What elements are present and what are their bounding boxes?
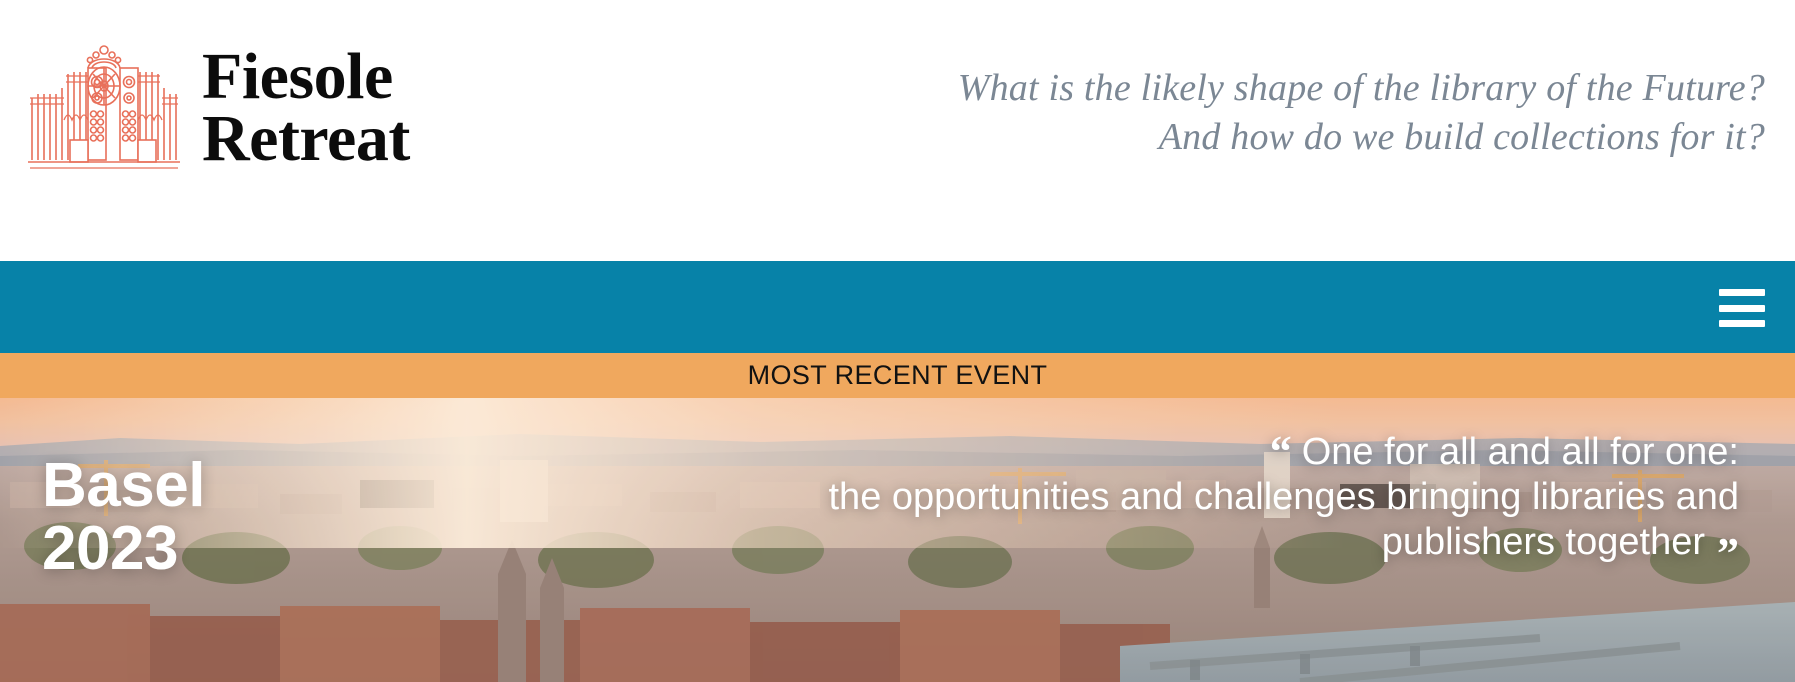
hero-quote-line-2: the opportunities and challenges bringin… (819, 475, 1739, 520)
brand-logo-link[interactable]: Fiesole Retreat (28, 42, 410, 170)
brand-wordmark: Fiesole Retreat (202, 46, 410, 170)
quote-open-icon: “ (1270, 427, 1292, 476)
hero-quote-text-1: One for all and all for one: (1302, 431, 1739, 473)
hero-quote: “One for all and all for one: the opport… (819, 430, 1739, 564)
quote-close-icon: ” (1717, 529, 1739, 578)
event-banner-label: MOST RECENT EVENT (748, 360, 1048, 391)
hamburger-menu-icon[interactable] (1719, 289, 1765, 327)
hero-quote-line-3: publishers together” (819, 520, 1739, 565)
hero-quote-text-3: publishers together (1382, 521, 1705, 563)
site-header: Fiesole Retreat What is the likely shape… (0, 0, 1795, 261)
most-recent-event-banner: MOST RECENT EVENT (0, 353, 1795, 398)
hamburger-bar-middle (1719, 305, 1765, 312)
brand-line-2: Retreat (202, 108, 410, 170)
hamburger-bar-top (1719, 289, 1765, 296)
main-navbar (0, 261, 1795, 353)
tagline-line-2: And how do we build collections for it? (865, 113, 1765, 162)
header-tagline: What is the likely shape of the library … (865, 64, 1765, 161)
hero-quote-line-1: “One for all and all for one: (819, 430, 1739, 475)
hamburger-bar-bottom (1719, 320, 1765, 327)
page-root: Fiesole Retreat What is the likely shape… (0, 0, 1795, 682)
fiesole-gate-icon (28, 42, 180, 170)
hero-section[interactable]: Basel 2023 “One for all and all for one:… (0, 398, 1795, 682)
tagline-line-1: What is the likely shape of the library … (865, 64, 1765, 113)
hero-year: 2023 (42, 517, 205, 580)
hero-location-heading: Basel 2023 (42, 454, 205, 580)
hero-place-name: Basel (42, 451, 205, 520)
